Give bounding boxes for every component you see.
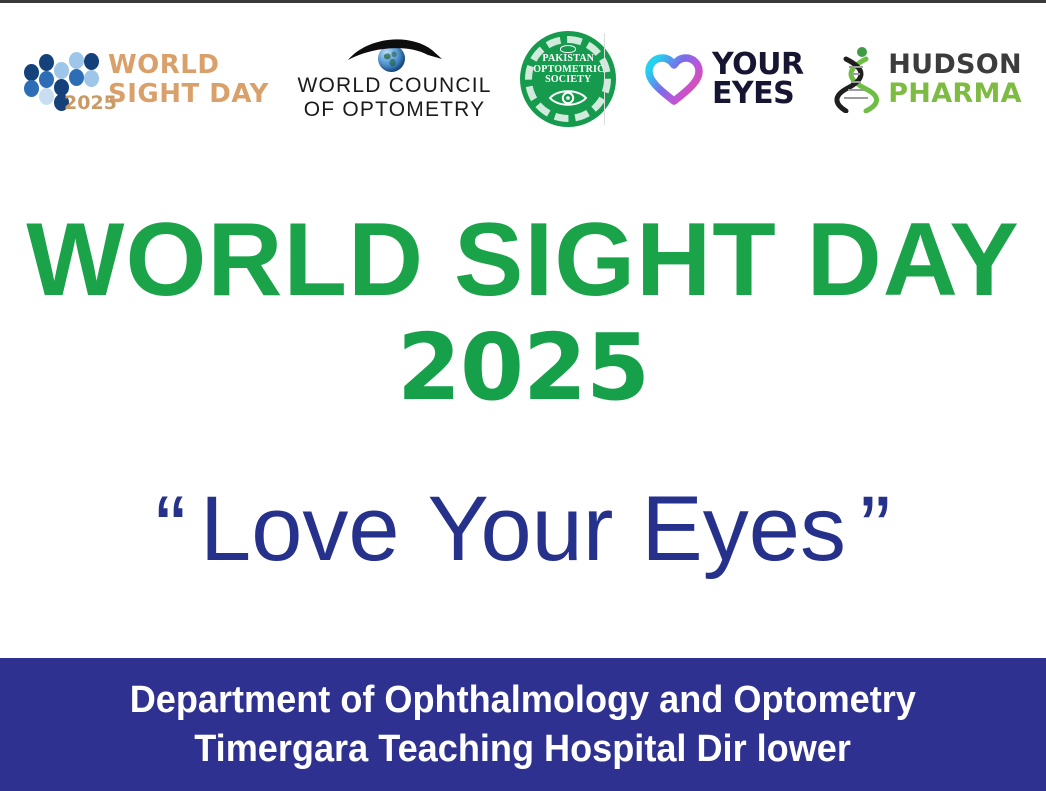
footer-line-1: Department of Ophthalmology and Optometr… (130, 676, 916, 725)
hudson-logo-line1: HUDSON (888, 51, 1022, 78)
dna-helix-icon (832, 45, 880, 113)
world-council-of-optometry-logo: WORLD COUNCIL OF OPTOMETRY (298, 36, 492, 122)
wsd-logo-line2: SIGHT DAY (108, 81, 269, 107)
title-line-1: WORLD SIGHT DAY (0, 208, 1046, 312)
lye-logo-line2: EYES (712, 79, 804, 108)
slogan-word-3: Eyes (641, 478, 846, 580)
small-eye-icon (560, 45, 576, 53)
page-title: WORLD SIGHT DAY 2025 (0, 208, 1046, 417)
slogan-open-quote: “ (155, 478, 186, 580)
pos-logo-line3: SOCIETY (533, 75, 603, 86)
hudson-pharma-logo: HUDSON PHARMA (832, 45, 1022, 113)
slogan-text: “LoveYourEyes” (0, 483, 1046, 575)
sponsor-logo-strip: 2025 WORLD SIGHT DAY WORLD COUNCIL OF OP… (0, 25, 1046, 133)
pos-seal-icon: PAKISTAN OPTOMETRIC SOCIETY (520, 31, 616, 127)
heart-icon (645, 53, 703, 105)
slogan-word-2: Your (428, 478, 614, 580)
footer-line-2: Timergara Teaching Hospital Dir lower (195, 725, 852, 774)
world-sight-day-2025-logo: 2025 WORLD SIGHT DAY (22, 48, 269, 110)
wsd-logo-line1: WORLD (108, 52, 269, 78)
wco-eye-globe-icon (340, 36, 450, 72)
wsd-dot-grid-icon: 2025 (22, 48, 100, 110)
love-your-eyes-logo: YOUR EYES (645, 50, 804, 108)
slogan-close-quote: ” (860, 478, 891, 580)
slogan-word-1: Love (200, 478, 400, 580)
wco-logo-line1: WORLD COUNCIL (298, 74, 492, 98)
lye-logo-line1: YOUR (712, 50, 804, 79)
hudson-logo-line2: PHARMA (888, 80, 1022, 107)
pos-logo-line1: PAKISTAN (533, 54, 603, 65)
logo-divider (604, 33, 605, 125)
world-sight-day-poster: 2025 WORLD SIGHT DAY WORLD COUNCIL OF OP… (0, 0, 1046, 791)
pakistan-optometric-society-logo: PAKISTAN OPTOMETRIC SOCIETY (520, 31, 616, 127)
footer-banner: Department of Ophthalmology and Optometr… (0, 658, 1046, 791)
wco-logo-line2: OF OPTOMETRY (298, 98, 492, 122)
eye-icon (548, 88, 588, 108)
wsd-year-label: 2025 (64, 92, 117, 114)
title-line-2: 2025 (0, 320, 1046, 417)
